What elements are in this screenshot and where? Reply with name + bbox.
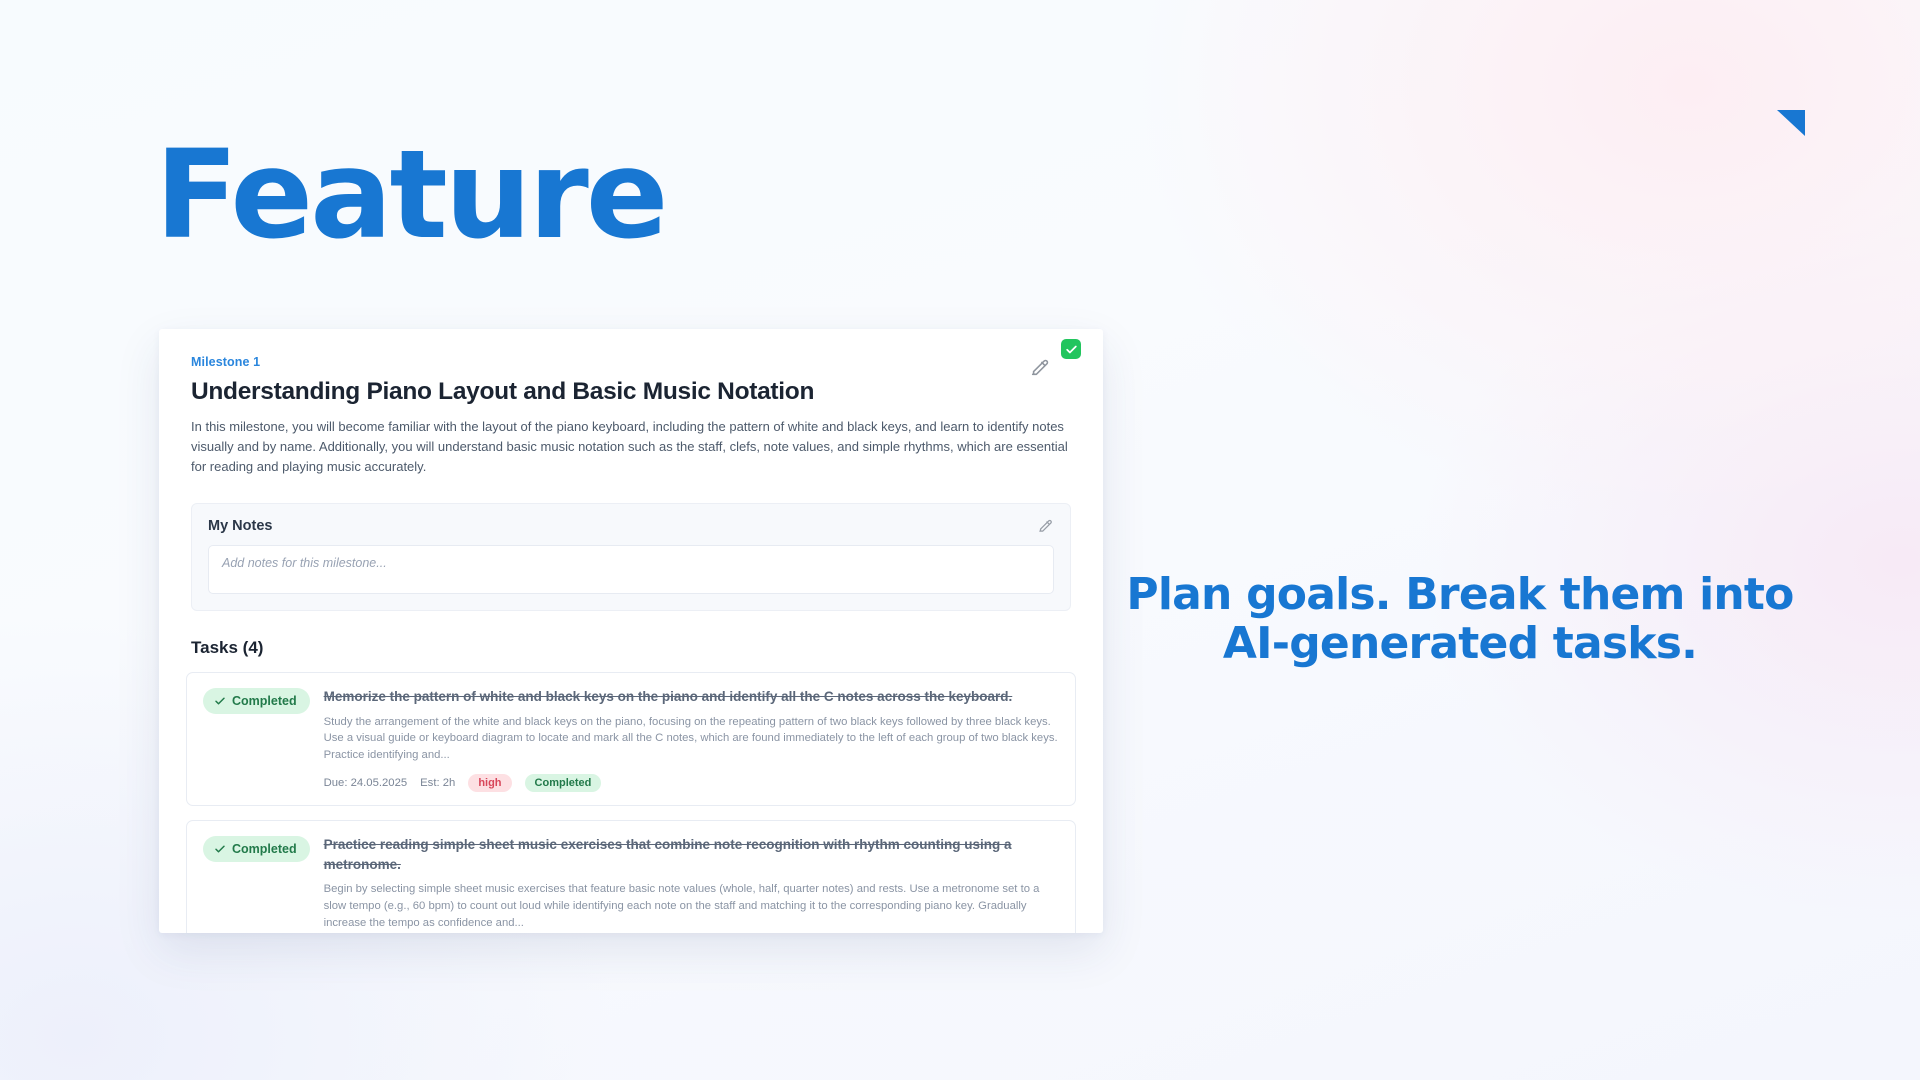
milestone-actions (1029, 339, 1081, 378)
marketing-line-2: AI-generated tasks. (1100, 619, 1820, 668)
task-status-badge: Completed (525, 774, 602, 792)
task-description: Begin by selecting simple sheet music ex… (324, 881, 1059, 931)
milestone-description: In this milestone, you will become famil… (191, 417, 1069, 477)
notes-input[interactable]: Add notes for this milestone... (208, 545, 1054, 594)
my-notes-title: My Notes (208, 518, 272, 534)
task-priority-badge: high (468, 774, 511, 792)
my-notes-header: My Notes (208, 517, 1054, 534)
task-body: Memorize the pattern of white and black … (324, 687, 1059, 791)
my-notes-panel: My Notes Add notes for this milestone... (191, 503, 1071, 611)
marketing-copy: Plan goals. Break them into AI-generated… (1100, 570, 1820, 669)
milestone-header: Milestone 1 Understanding Piano Layout a… (159, 329, 1103, 477)
check-icon (214, 695, 226, 707)
tasks-heading: Tasks (4) (191, 638, 1103, 658)
task-status-toggle[interactable]: Completed (203, 688, 310, 714)
task-title: Practice reading simple sheet music exer… (324, 835, 1059, 876)
task-body: Practice reading simple sheet music exer… (324, 835, 1059, 933)
task-status-label: Completed (232, 694, 297, 708)
task-meta: Due: 24.05.2025 Est: 2h high Completed (324, 774, 1059, 792)
marketing-line-1: Plan goals. Break them into (1100, 570, 1820, 619)
triangle-logo-icon (1775, 106, 1807, 138)
task-estimate: Est: 2h (420, 777, 455, 789)
task-row[interactable]: Completed Memorize the pattern of white … (186, 672, 1076, 805)
milestone-title: Understanding Piano Layout and Basic Mus… (191, 378, 1071, 406)
milestone-complete-badge[interactable] (1061, 339, 1081, 359)
task-status-toggle[interactable]: Completed (203, 836, 310, 862)
task-title: Memorize the pattern of white and black … (324, 687, 1059, 707)
pencil-icon[interactable] (1029, 356, 1051, 378)
check-icon (214, 843, 226, 855)
task-description: Study the arrangement of the white and b… (324, 714, 1059, 764)
app-screenshot-window: Milestone 1 Understanding Piano Layout a… (159, 329, 1103, 933)
task-row[interactable]: Completed Practice reading simple sheet … (186, 820, 1076, 933)
notes-pencil-icon[interactable] (1037, 517, 1054, 534)
task-list: Completed Memorize the pattern of white … (186, 672, 1076, 933)
task-due-date: Due: 24.05.2025 (324, 777, 408, 789)
notes-placeholder: Add notes for this milestone... (222, 556, 1040, 570)
page-title: Feature (155, 134, 666, 256)
milestone-eyebrow: Milestone 1 (191, 355, 1071, 369)
task-status-label: Completed (232, 842, 297, 856)
